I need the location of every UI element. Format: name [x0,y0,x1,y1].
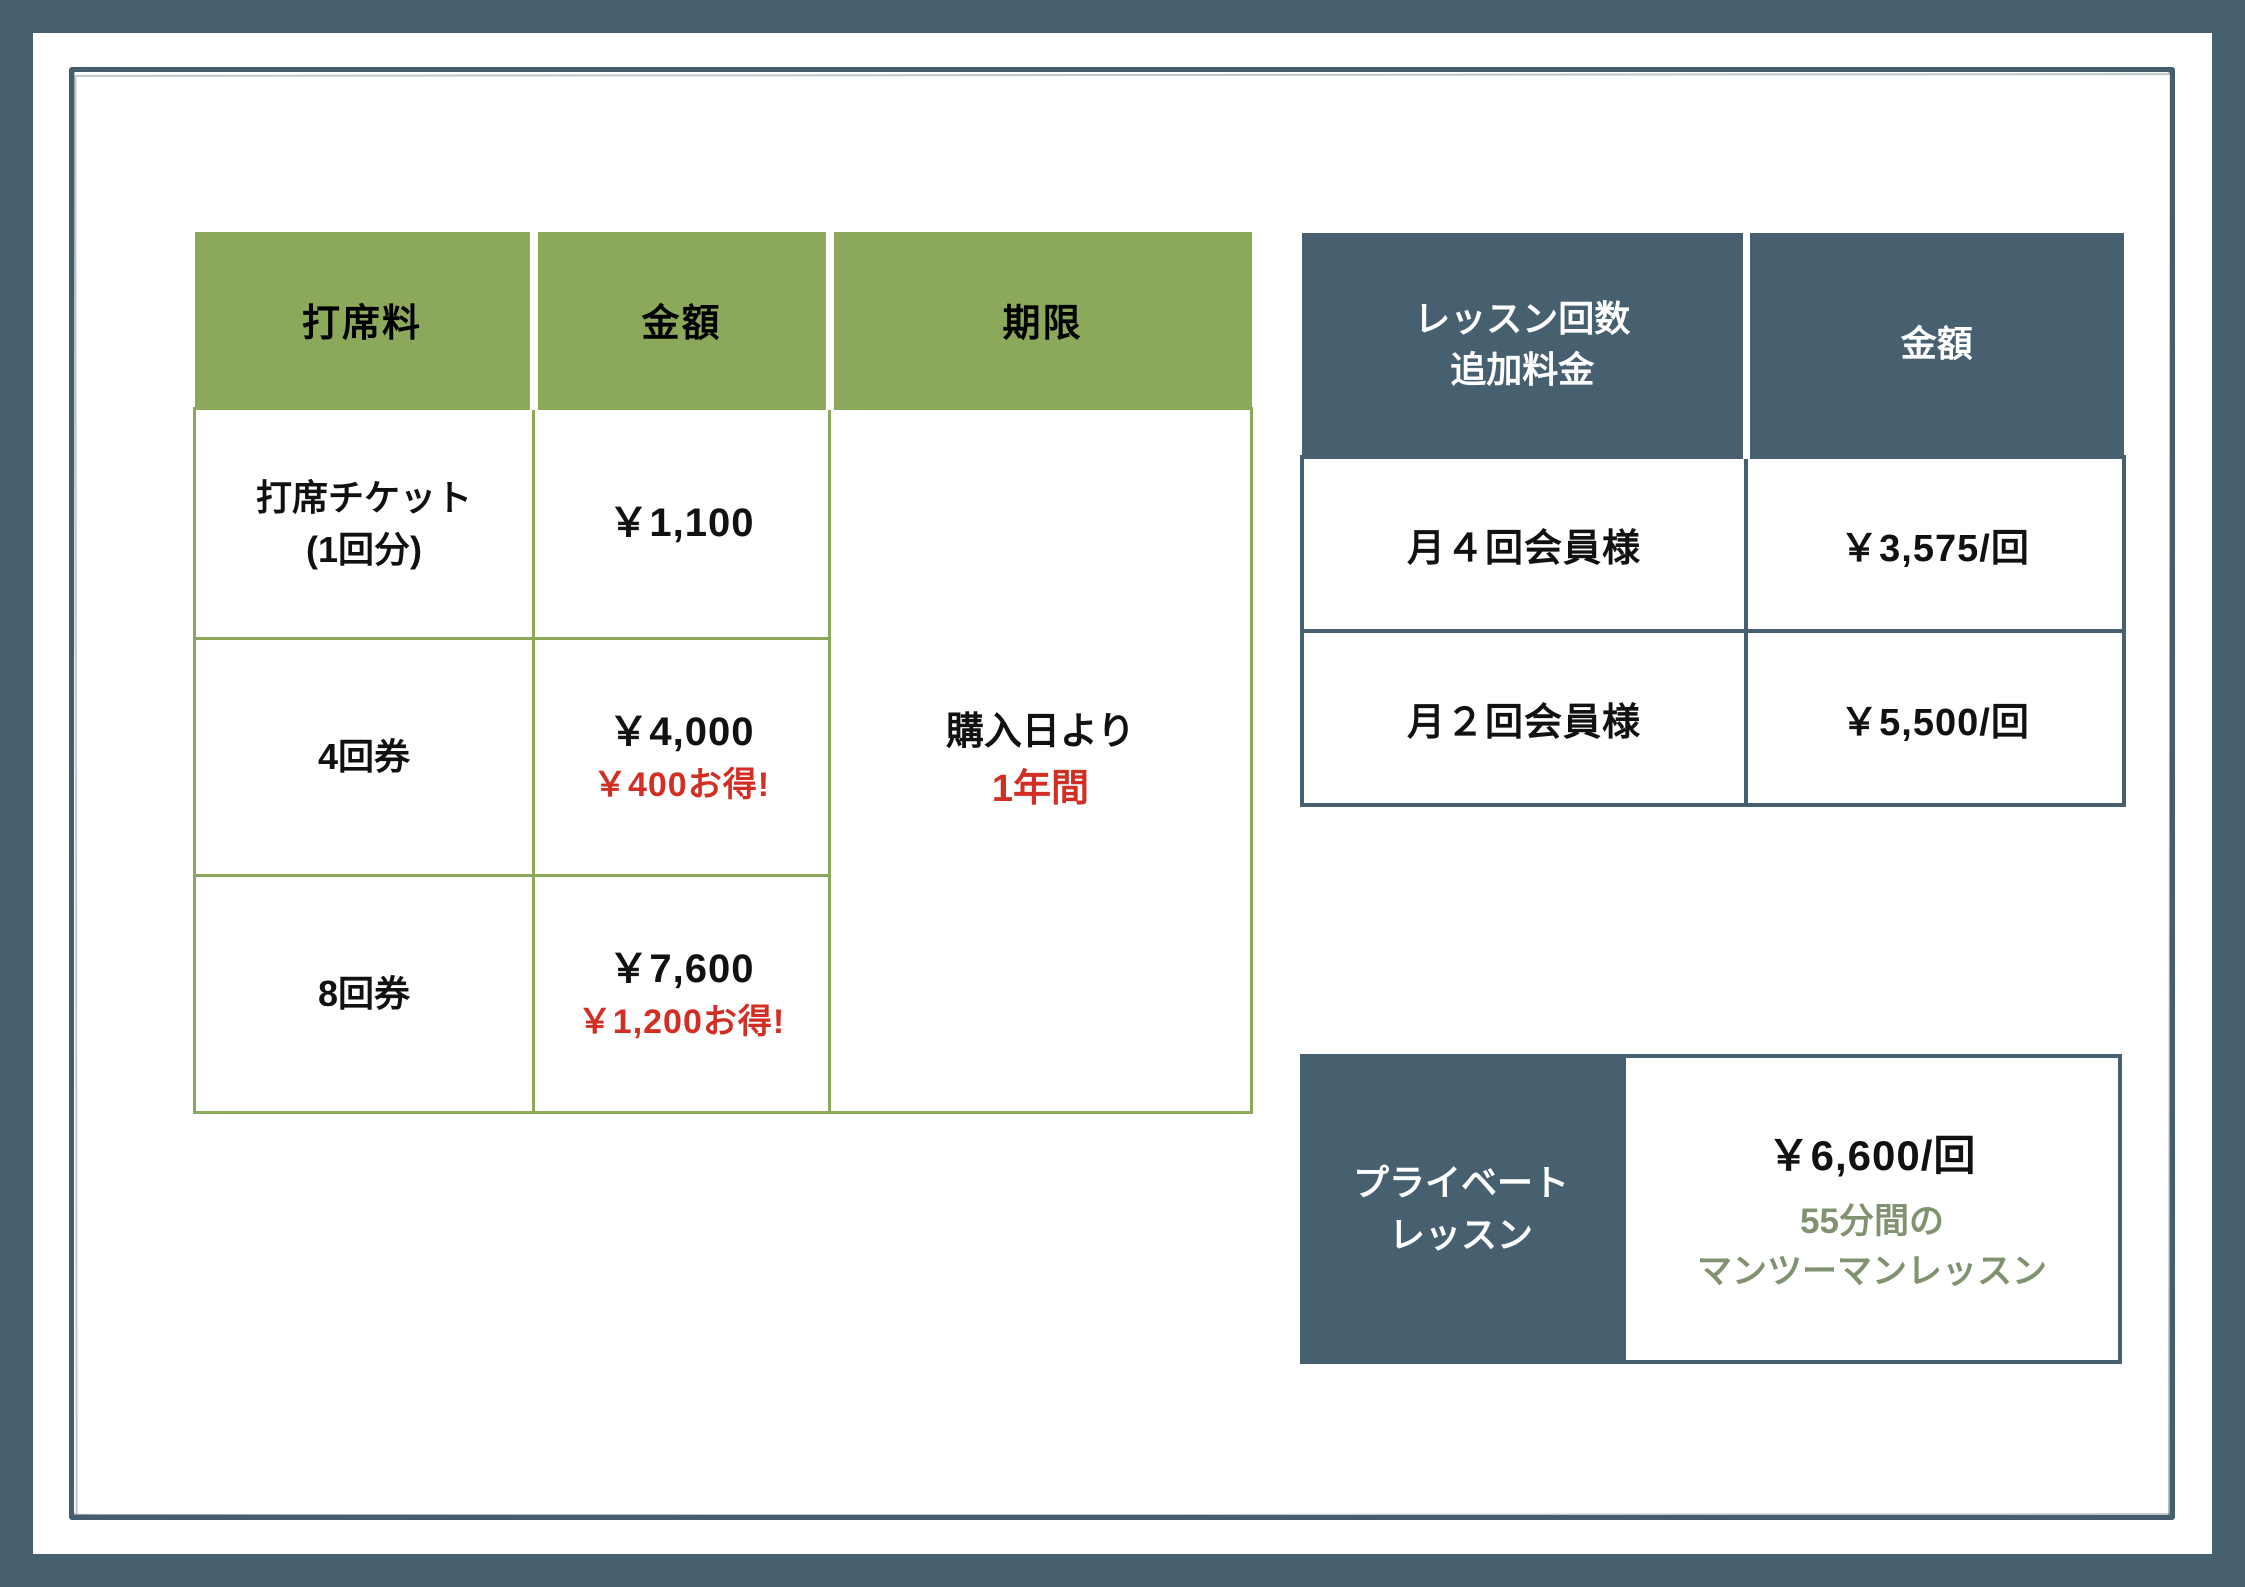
ticket-header-expiry: 期限 [830,232,1252,409]
private-lesson-label-line-2: レッスン [1353,1209,1569,1261]
ticket-row-0-item-sub: (1回分) [196,524,532,575]
ticket-row-0-amount: ￥1,100 [534,409,830,639]
ticket-row-1-amount: ￥4,000 ￥400お得! [534,639,830,876]
table-header-row: レッスン回数 追加料金 金額 [1302,233,2124,457]
ticket-row-0-item-main: 打席チケット [196,472,532,523]
ticket-row-0-item: 打席チケット (1回分) [195,409,534,639]
ticket-row-2-save-badge: ￥1,200お得! [535,998,828,1046]
table-header-row: 打席料 金額 期限 [195,232,1252,409]
price-sheet-page: 打席料 金額 期限 打席チケット (1回分) ￥1,100 購入日より 1年間 … [33,33,2212,1554]
private-lesson-label: プライベート レッスン [1300,1054,1622,1364]
lesson-row-1-price: ￥5,500/回 [1746,631,2124,805]
lesson-surcharge-table: レッスン回数 追加料金 金額 月４回会員様 ￥3,575/回 月２回会員様 ￥5… [1300,233,2126,807]
private-lesson-value: ￥6,600/回 55分間の マンツーマンレッスン [1622,1054,2122,1364]
lesson-header-count-line-1: レッスン回数 [1302,293,1743,344]
expiry-line-1: 購入日より [831,704,1250,761]
private-lesson-box: プライベート レッスン ￥6,600/回 55分間の マンツーマンレッスン [1300,1054,2122,1364]
ticket-header-amount: 金額 [534,232,830,409]
ticket-expiry-cell: 購入日より 1年間 [830,409,1252,1113]
private-lesson-label-line-1: プライベート [1353,1157,1569,1209]
table-row: 月４回会員様 ￥3,575/回 [1302,457,2124,631]
lesson-header-amount: 金額 [1746,233,2124,457]
table-row: 打席チケット (1回分) ￥1,100 購入日より 1年間 [195,409,1252,639]
private-lesson-note-line-2: マンツーマンレッスン [1697,1247,2047,1297]
lesson-row-1-plan: 月２回会員様 [1302,631,1746,805]
ticket-header-item: 打席料 [195,232,534,409]
lesson-header-count: レッスン回数 追加料金 [1302,233,1746,457]
lesson-row-0-plan: 月４回会員様 [1302,457,1746,631]
ticket-price-table: 打席料 金額 期限 打席チケット (1回分) ￥1,100 購入日より 1年間 … [193,232,1253,1114]
table-row: 月２回会員様 ￥5,500/回 [1302,631,2124,805]
expiry-line-2: 1年間 [831,761,1250,818]
ticket-row-1-item: 4回券 [195,639,534,876]
private-lesson-note: 55分間の マンツーマンレッスン [1697,1197,2047,1296]
private-lesson-note-line-1: 55分間の [1697,1197,2047,1247]
lesson-row-0-price: ￥3,575/回 [1746,457,2124,631]
ticket-row-2-amount: ￥7,600 ￥1,200お得! [534,876,830,1113]
lesson-header-count-line-2: 追加料金 [1302,344,1743,395]
private-lesson-price: ￥6,600/回 [1768,1122,1977,1183]
ticket-row-1-amount-value: ￥4,000 [535,704,828,761]
ticket-row-2-item: 8回券 [195,876,534,1113]
ticket-row-1-save-badge: ￥400お得! [535,761,828,809]
ticket-row-2-amount-value: ￥7,600 [535,941,828,998]
